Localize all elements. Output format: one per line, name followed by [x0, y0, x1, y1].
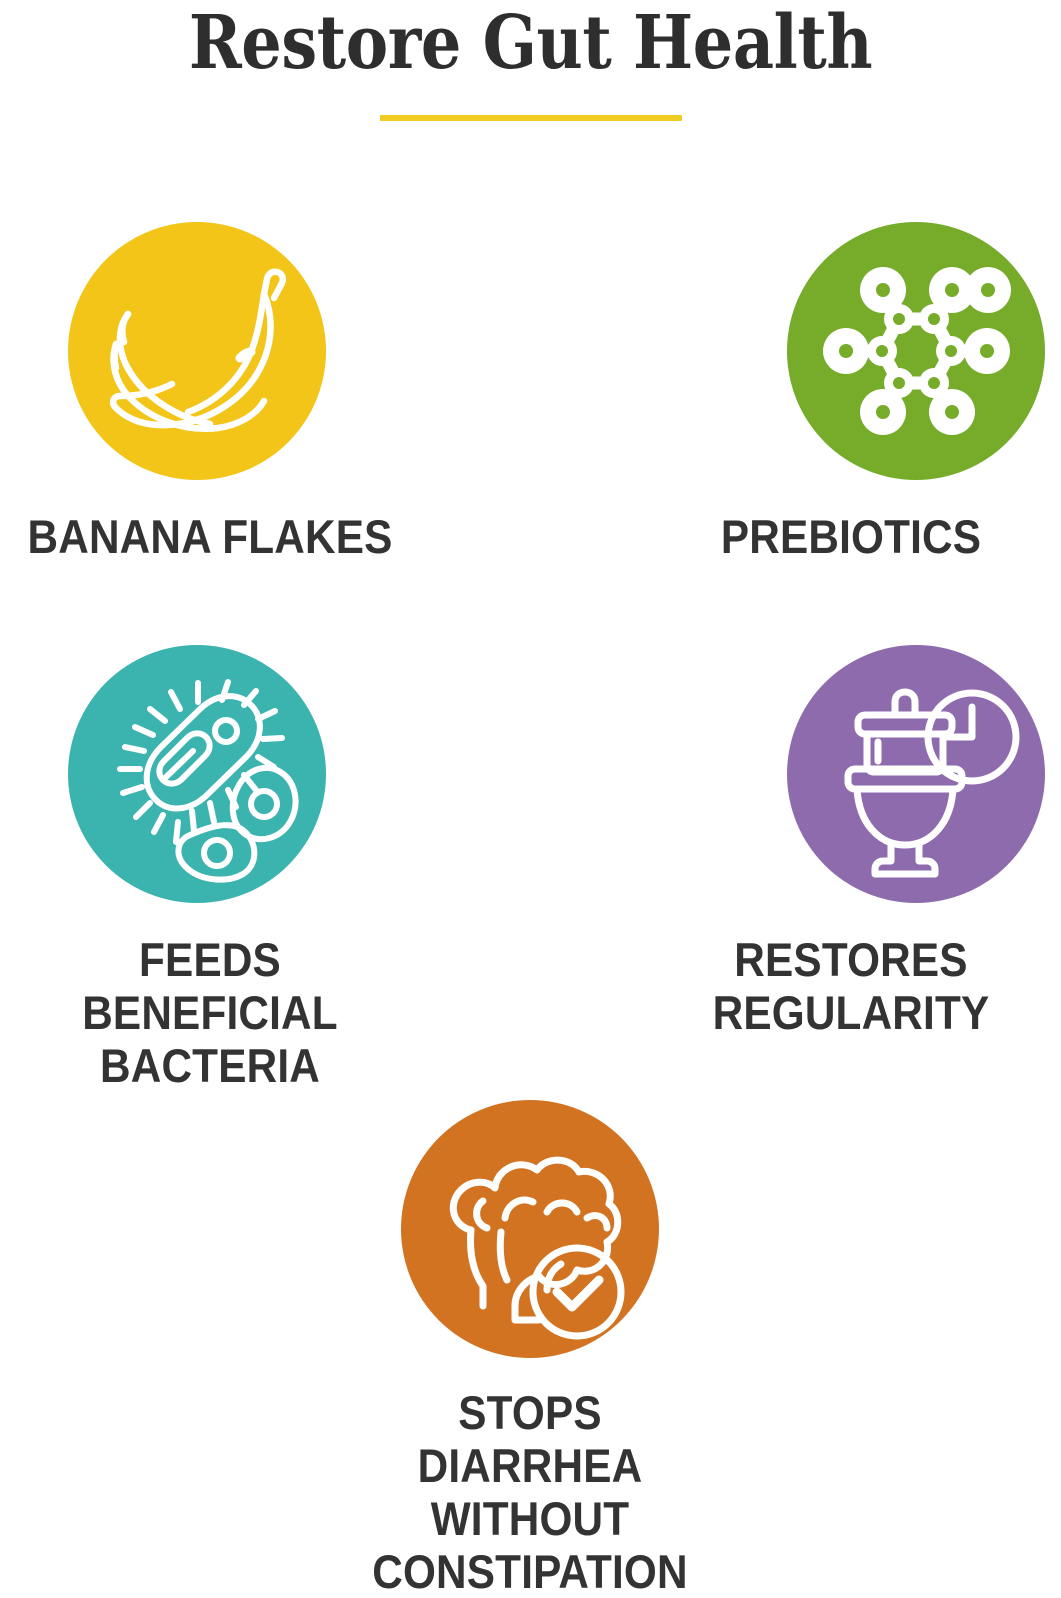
- molecule-icon: [787, 222, 1045, 480]
- feature-feeds-beneficial-bacteria: FEEDS BENEFICIAL BACTERIA: [0, 645, 420, 1092]
- header: Restore Gut Health: [0, 0, 1061, 121]
- feature-label: BANANA FLAKES: [21, 510, 399, 563]
- feature-label: FEEDS BENEFICIAL BACTERIA: [21, 933, 399, 1092]
- feature-restores-regularity: RESTORES REGULARITY: [641, 645, 1061, 1039]
- feature-prebiotics: PREBIOTICS: [641, 222, 1061, 563]
- toilet-clock-icon: [787, 645, 1045, 903]
- banana-icon: [68, 222, 326, 480]
- title-underline-rule: [380, 115, 682, 121]
- banana-icon-circle: [68, 222, 326, 480]
- bacteria-icon: [68, 645, 326, 903]
- page-title: Restore Gut Health: [74, 0, 986, 84]
- intestine-check-icon-circle: [401, 1100, 659, 1358]
- feature-label: PREBIOTICS: [662, 510, 1040, 563]
- feature-banana-flakes: BANANA FLAKES: [0, 222, 420, 563]
- feature-stops-diarrhea: STOPS DIARRHEA WITHOUT CONSTIPATION: [320, 1100, 740, 1598]
- feature-label: RESTORES REGULARITY: [662, 933, 1040, 1039]
- bacteria-icon-circle: [68, 645, 326, 903]
- intestine-check-icon: [401, 1100, 659, 1358]
- molecule-icon-circle: [787, 222, 1045, 480]
- toilet-clock-icon-circle: [787, 645, 1045, 903]
- feature-label: STOPS DIARRHEA WITHOUT CONSTIPATION: [341, 1386, 719, 1598]
